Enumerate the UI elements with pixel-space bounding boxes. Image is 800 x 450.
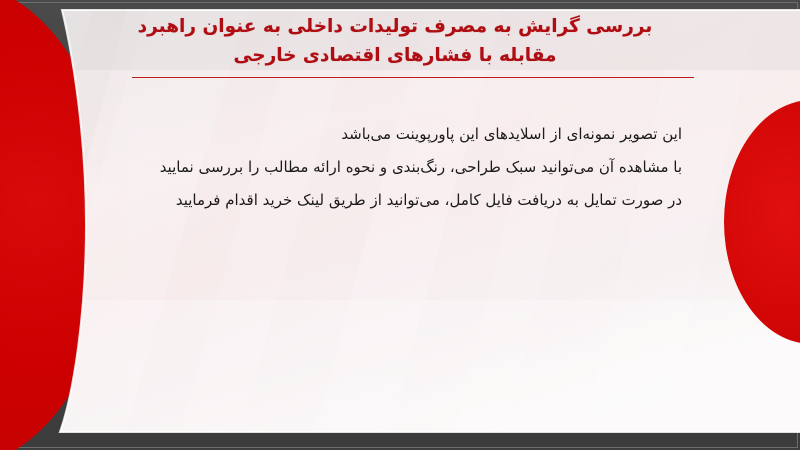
slide-canvas: بررسی گرایش به مصرف تولیدات داخلی به عنو… [0, 0, 800, 450]
body-line-3: در صورت تمایل به دریافت فایل کامل، می‌تو… [82, 184, 682, 217]
slide-body: این تصویر نمونه‌ای از اسلایدهای این پاور… [82, 118, 682, 217]
body-line-2: با مشاهده آن می‌توانید سبک طراحی، رنگ‌بن… [82, 151, 682, 184]
title-line-2: مقابله با فشارهای اقتصادی خارجی [100, 41, 690, 70]
body-line-1: این تصویر نمونه‌ای از اسلایدهای این پاور… [82, 118, 682, 151]
title-line-1: بررسی گرایش به مصرف تولیدات داخلی به عنو… [100, 12, 690, 41]
slide-title: بررسی گرایش به مصرف تولیدات داخلی به عنو… [100, 12, 690, 70]
title-underline [132, 77, 694, 78]
